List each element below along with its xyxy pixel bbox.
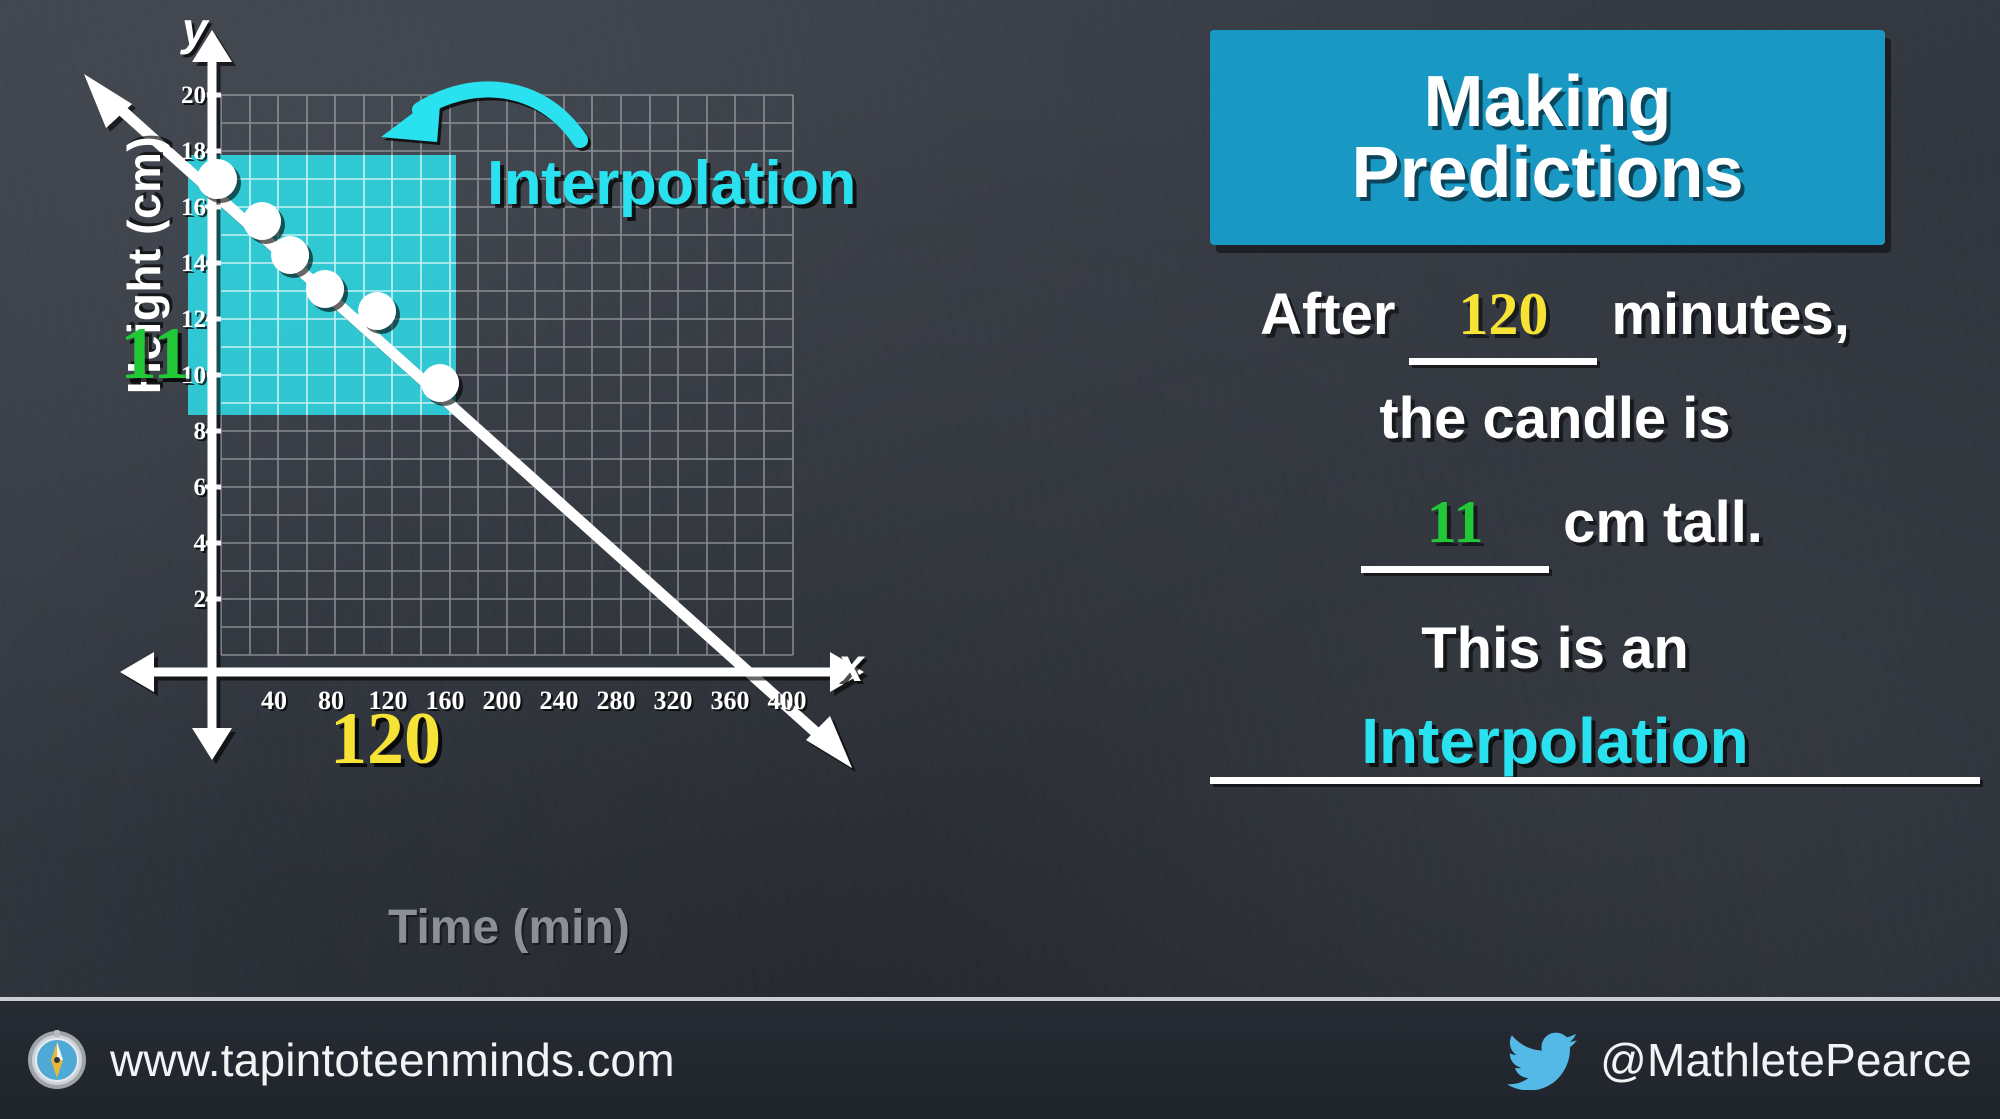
blank-height-value: 11: [1427, 489, 1484, 555]
blank-minutes-value: 120: [1458, 281, 1548, 347]
x-tick-label: 400: [752, 686, 822, 716]
keyword-rule: [1210, 777, 1980, 784]
y-tick-label: 4: [152, 530, 206, 558]
y-tick-label: 8: [152, 418, 206, 446]
sentence-this-is-an: This is an: [1421, 615, 1689, 682]
predicted-height-annotation: 11: [120, 312, 190, 397]
sentence-word-minutes: minutes,: [1611, 281, 1850, 348]
explanation-panel: Making Predictions After 120 minutes, th…: [1110, 0, 2000, 1000]
title-line-1: Making: [1423, 67, 1671, 138]
footer-bar: www.tapintoteenminds.com @MathletePearce: [0, 997, 2000, 1119]
title-line-2: Predictions: [1351, 138, 1743, 209]
sentence-line-4: This is an: [1110, 615, 2000, 682]
data-point: [421, 364, 459, 402]
y-tick-label: 18: [152, 138, 206, 166]
compass-icon: [26, 1029, 88, 1091]
footer-website-group[interactable]: www.tapintoteenminds.com: [0, 1029, 675, 1091]
x-axis-title: Time (min): [388, 900, 630, 955]
data-point: [243, 202, 281, 240]
interpolation-callout-label: Interpolation: [487, 148, 856, 219]
y-tick-label: 6: [152, 474, 206, 502]
blank-minutes-rule: [1409, 358, 1597, 365]
footer-website-text: www.tapintoteenminds.com: [110, 1033, 675, 1087]
blank-height: 11: [1361, 488, 1549, 557]
footer-twitter-group[interactable]: @MathletePearce: [1508, 1030, 2000, 1090]
y-tick-label: 16: [152, 194, 206, 222]
sentence-the-candle-is: the candle is: [1379, 385, 1730, 452]
blank-minutes: 120: [1409, 280, 1597, 349]
interpolation-callout-arrow: [381, 89, 580, 142]
data-point: [271, 236, 309, 274]
sentence-line-1: After 120 minutes,: [1110, 280, 2000, 349]
sentence-word-after: After: [1260, 281, 1395, 348]
twitter-bird-icon: [1508, 1030, 1580, 1090]
y-tick-label: 20: [152, 82, 206, 110]
graph-panel: y x Height (cm) Time (min) 20 18 16 14 1…: [0, 0, 960, 1000]
sentence-word-cm-tall: cm tall.: [1563, 489, 1763, 556]
y-tick-label: 14: [152, 250, 206, 278]
predicted-time-annotation: 120: [330, 697, 441, 782]
sentence-line-3: 11 cm tall.: [1110, 488, 2000, 557]
sentence-line-2: the candle is: [1110, 385, 2000, 452]
sentence-line-5: Interpolation: [1110, 704, 2000, 778]
y-tick-label: 2: [152, 586, 206, 614]
keyword-interpolation: Interpolation: [1361, 704, 1749, 778]
footer-twitter-text: @MathletePearce: [1600, 1033, 1972, 1087]
blank-height-rule: [1361, 566, 1549, 573]
data-point: [306, 270, 344, 308]
prediction-sentence: After 120 minutes, the candle is 11 cm t…: [1110, 280, 2000, 778]
x-axis-letter: x: [838, 638, 864, 692]
data-point: [358, 292, 396, 330]
title-card: Making Predictions: [1210, 30, 1885, 245]
y-axis-letter: y: [182, 2, 208, 56]
